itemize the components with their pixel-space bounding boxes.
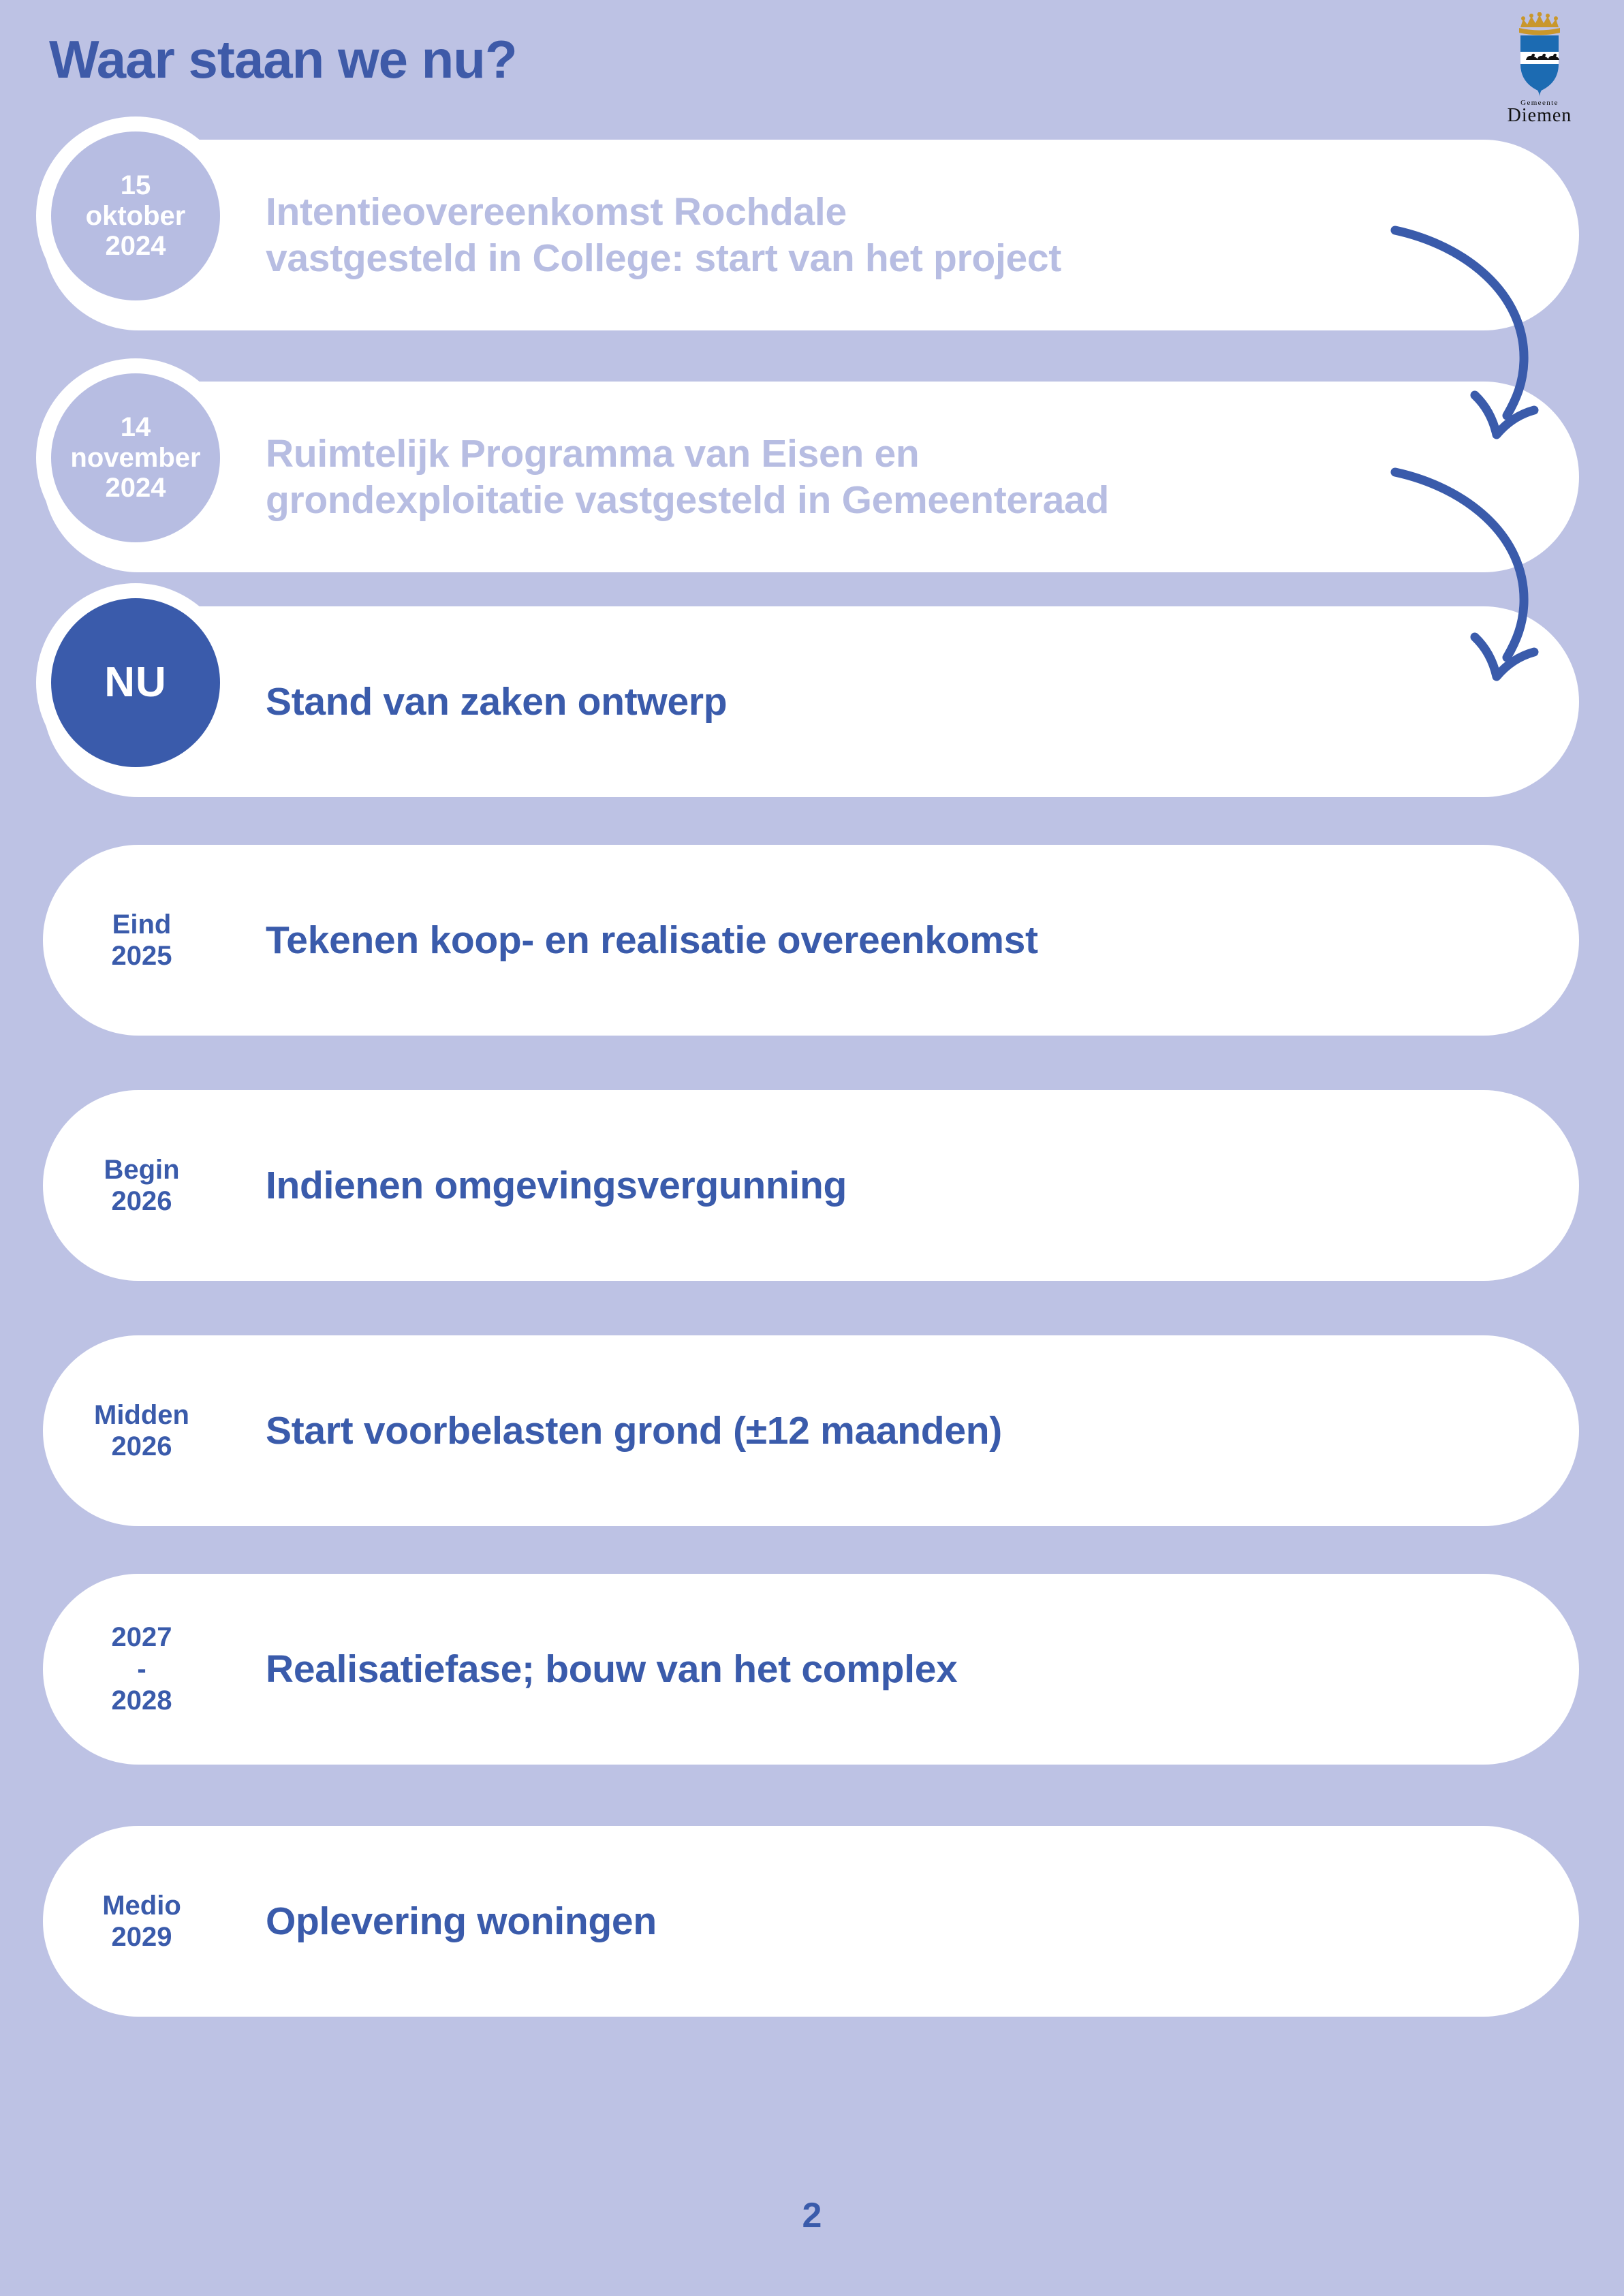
timeline-date-text: Medio 2029 <box>102 1890 181 1953</box>
timeline-label: Intentieovereenkomst Rochdale vastgestel… <box>266 140 1485 330</box>
timeline-label: Start voorbelasten grond (±12 maanden) <box>266 1335 1485 1526</box>
timeline-label: Ruimtelijk Programma van Eisen en gronde… <box>266 382 1485 572</box>
timeline-row[interactable]: 15 oktober 2024 Intentieovereenkomst Roc… <box>43 140 1579 330</box>
timeline-row[interactable]: 14 november 2024 Ruimtelijk Programma va… <box>43 382 1579 572</box>
timeline-row[interactable]: Midden 2026 Start voorbelasten grond (±1… <box>43 1335 1579 1526</box>
timeline-row[interactable]: Eind 2025 Tekenen koop- en realisatie ov… <box>43 845 1579 1036</box>
slide-page: Waar staan we nu? <box>0 0 1624 2296</box>
timeline-row-current[interactable]: NU Stand van zaken ontwerp <box>43 606 1579 797</box>
timeline-date-text: 15 oktober 2024 <box>80 170 191 262</box>
timeline-label-text: Intentieovereenkomst Rochdale vastgestel… <box>266 189 1061 282</box>
timeline: 15 oktober 2024 Intentieovereenkomst Roc… <box>0 0 1624 2296</box>
timeline-date-text: 2027 - 2028 <box>112 1622 172 1716</box>
timeline-date-badge: 15 oktober 2024 <box>51 131 220 300</box>
timeline-label-text: Realisatiefase; bouw van het complex <box>266 1646 958 1692</box>
timeline-date-text: Eind 2025 <box>112 909 172 972</box>
timeline-date-label: Midden 2026 <box>57 1335 227 1526</box>
timeline-row[interactable]: Medio 2029 Oplevering woningen <box>43 1826 1579 2017</box>
timeline-date-label: Eind 2025 <box>57 845 227 1036</box>
page-number: 2 <box>0 2195 1624 2236</box>
timeline-date-label: Medio 2029 <box>57 1826 227 2017</box>
timeline-label-text: Oplevering woningen <box>266 1898 657 1944</box>
timeline-label: Tekenen koop- en realisatie overeenkomst <box>266 845 1485 1036</box>
timeline-date-text: 14 november 2024 <box>65 412 206 503</box>
timeline-label: Indienen omgevingsvergunning <box>266 1090 1485 1281</box>
timeline-date-label: Begin 2026 <box>57 1090 227 1281</box>
timeline-row[interactable]: 2027 - 2028 Realisatiefase; bouw van het… <box>43 1574 1579 1765</box>
timeline-now-badge: NU <box>51 598 220 767</box>
timeline-label-text: Indienen omgevingsvergunning <box>266 1162 847 1209</box>
timeline-date-badge: 14 november 2024 <box>51 373 220 542</box>
timeline-label-text: Ruimtelijk Programma van Eisen en gronde… <box>266 431 1109 524</box>
timeline-label: Stand van zaken ontwerp <box>266 606 1485 797</box>
timeline-label: Realisatiefase; bouw van het complex <box>266 1574 1485 1765</box>
timeline-label-text: Start voorbelasten grond (±12 maanden) <box>266 1408 1002 1454</box>
timeline-date-text: NU <box>99 659 172 706</box>
timeline-date-label: 2027 - 2028 <box>57 1574 227 1765</box>
timeline-date-text: Begin 2026 <box>104 1154 179 1217</box>
timeline-label: Oplevering woningen <box>266 1826 1485 2017</box>
timeline-label-text: Tekenen koop- en realisatie overeenkomst <box>266 917 1038 963</box>
timeline-label-text: Stand van zaken ontwerp <box>266 679 727 725</box>
timeline-row[interactable]: Begin 2026 Indienen omgevingsvergunning <box>43 1090 1579 1281</box>
timeline-date-text: Midden 2026 <box>94 1399 189 1463</box>
